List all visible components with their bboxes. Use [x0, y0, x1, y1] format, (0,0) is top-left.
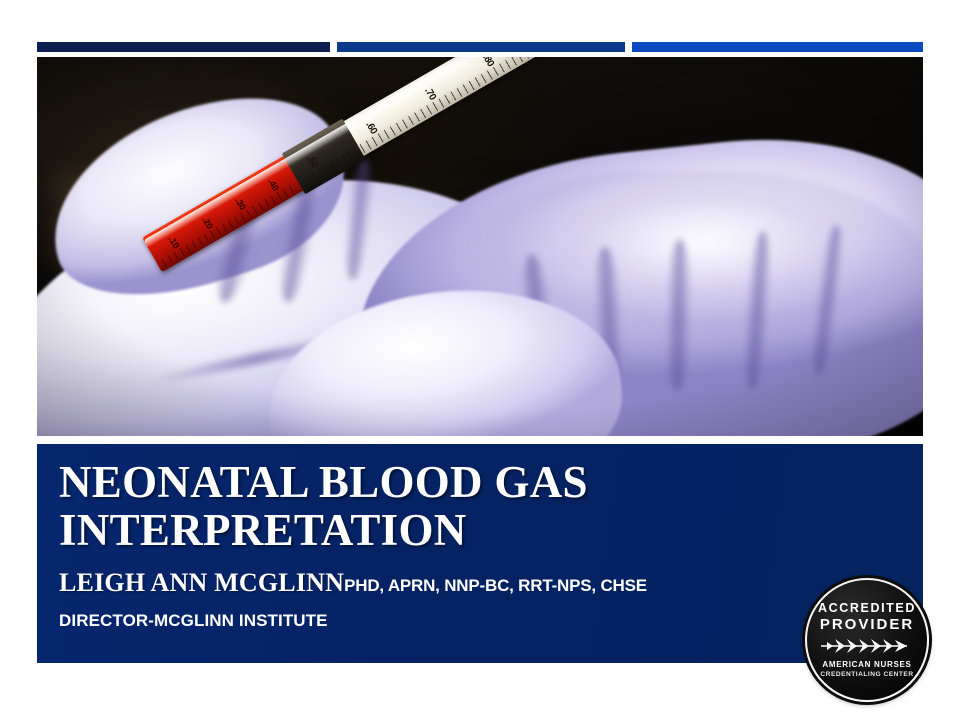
presenter-credentials: PHD, APRN, NNP-BC, RRT-NPS, CHSE — [344, 576, 647, 595]
ancc-org-line-1: AMERICAN NURSES — [822, 660, 911, 670]
page-title: NEONATAL BLOOD GAS INTERPRETATION — [59, 458, 679, 554]
syringe-blood-tick-label: .20 — [200, 215, 215, 231]
syringe-tick-label: .80 — [481, 57, 497, 69]
title-text-block: NEONATAL BLOOD GAS INTERPRETATION LEIGH … — [59, 458, 679, 631]
presenter-name: LEIGH ANN MCGLINN — [59, 568, 344, 597]
syringe-tick-label: .60 — [363, 121, 379, 137]
title-photo-blood-gas-syringe: .10 .20 .30 .40 .50 .60 .70 .80 .90 1.00… — [37, 57, 923, 436]
ancc-accredited-provider-badge: ACCREDITED PROVIDER AMERICAN NURSES CRED… — [805, 578, 929, 702]
accent-bar-dark-navy — [37, 42, 330, 52]
accent-bar-bright-blue — [632, 42, 923, 52]
ancc-line-provider: PROVIDER — [820, 616, 914, 633]
ancc-org-line-2: CREDENTIALING CENTER — [820, 670, 913, 679]
syringe-blood-tick-label: .40 — [266, 177, 281, 193]
syringe-tick-label: .50 — [304, 154, 320, 170]
syringe-blood-tick-label: .30 — [233, 196, 248, 212]
syringe-blood-tick-label: .10 — [167, 234, 182, 250]
ancc-line-accredited: ACCREDITED — [818, 601, 916, 616]
presentation-slide: .10 .20 .30 .40 .50 .60 .70 .80 .90 1.00… — [0, 0, 960, 720]
presenter-role: DIRECTOR-MCGLINN INSTITUTE — [59, 611, 679, 631]
accent-bar-medium-blue — [337, 42, 625, 52]
page-title-line-1: NEONATAL BLOOD GAS — [59, 458, 679, 506]
title-panel: NEONATAL BLOOD GAS INTERPRETATION LEIGH … — [37, 444, 923, 663]
page-title-line-2: INTERPRETATION — [59, 506, 679, 554]
presenter-line: LEIGH ANN MCGLINNPHD, APRN, NNP-BC, RRT-… — [59, 568, 679, 598]
syringe-tick-label: .70 — [422, 87, 438, 103]
laurel-chevron-icon — [819, 637, 915, 655]
